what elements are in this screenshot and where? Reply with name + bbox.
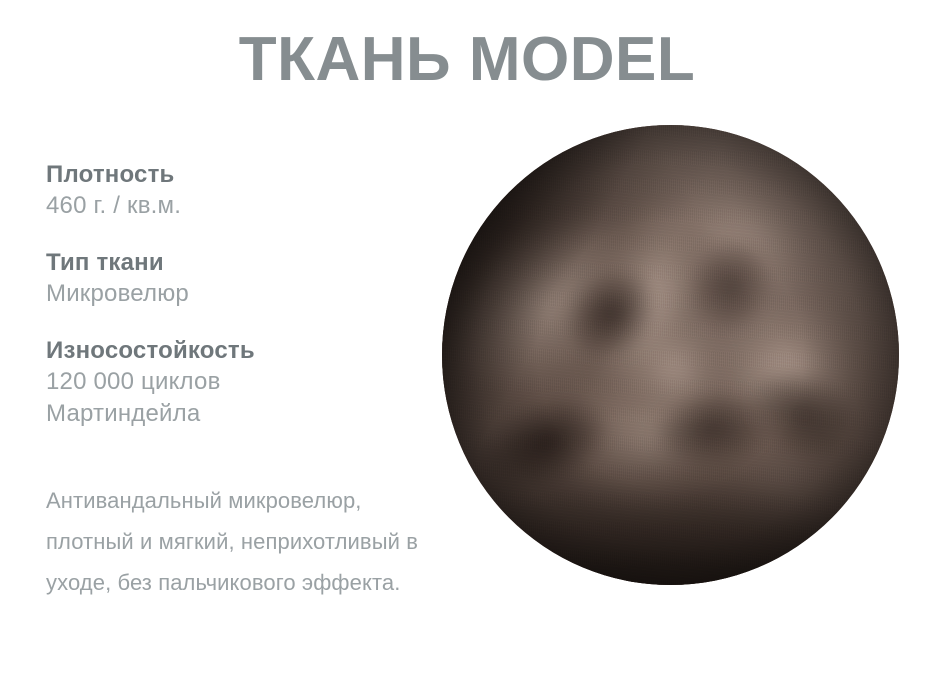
page-title: ТКАНЬ MODEL [0, 24, 934, 96]
spec-fabric-type: Тип ткани Микровелюр [46, 248, 426, 310]
fabric-swirl-photo [442, 125, 899, 585]
spec-durability-value-line2: Мартиндейла [46, 398, 426, 430]
spec-list: Плотность 460 г. / кв.м. Тип ткани Микро… [46, 160, 426, 430]
spec-durability: Износостойкость 120 000 циклов Мартиндей… [46, 336, 426, 430]
fabric-vignette [442, 125, 899, 585]
fabric-description: Антивандальный микровелюр, плотный и мяг… [46, 480, 438, 603]
spec-durability-label: Износостойкость [46, 336, 426, 366]
spec-durability-value-line1: 120 000 циклов [46, 366, 426, 398]
spec-density-value: 460 г. / кв.м. [46, 190, 426, 222]
fabric-info-slide: ТКАНЬ MODEL Плотность 460 г. / кв.м. Тип… [0, 0, 934, 700]
spec-fabric-type-value: Микровелюр [46, 278, 426, 310]
spec-density: Плотность 460 г. / кв.м. [46, 160, 426, 222]
spec-density-label: Плотность [46, 160, 426, 190]
spec-fabric-type-label: Тип ткани [46, 248, 426, 278]
